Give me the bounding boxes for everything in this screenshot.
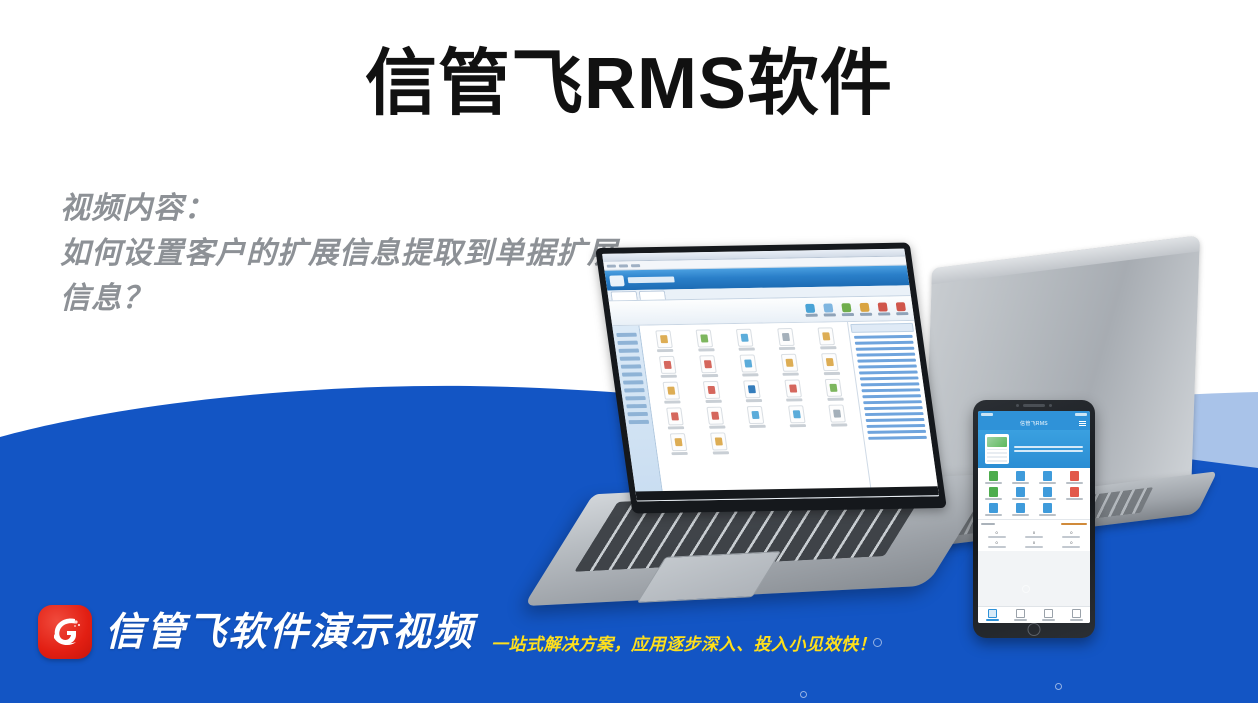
- module-glyph-icon: [744, 380, 762, 398]
- stat-cell: 0: [1015, 540, 1052, 548]
- footer-banner: 信管飞软件演示视频 一站式解决方案，应用逐步深入、投入小见效快！: [0, 603, 1258, 703]
- module-glyph-icon: [710, 432, 728, 450]
- footer-tagline: 一站式解决方案，应用逐步深入、投入小见效快！: [491, 630, 876, 655]
- module-glyph-icon: [706, 407, 724, 425]
- mobile-module-付款结算单[interactable]: [1007, 503, 1034, 516]
- stat-label: [1025, 536, 1043, 538]
- module-icon-系统设置[interactable]: [658, 433, 700, 455]
- mobile-module-销售出库查询[interactable]: [1061, 471, 1088, 484]
- right-panel-link[interactable]: [854, 335, 913, 339]
- banner-line-1: [1014, 446, 1083, 448]
- right-panel-link[interactable]: [858, 365, 917, 369]
- decorative-dot: [800, 691, 807, 698]
- module-label: [712, 451, 729, 454]
- module-icon-销售统计[interactable]: [735, 406, 777, 428]
- menu-item-edit[interactable]: [619, 264, 628, 267]
- mobile-module-label: [1039, 514, 1056, 516]
- toolbar-exit-icon[interactable]: [894, 302, 909, 315]
- module-icon-采购统计[interactable]: [776, 405, 818, 427]
- phone-camera-icon: [1016, 404, 1019, 407]
- stat-value: 0: [996, 530, 998, 535]
- mobile-module-采购出库查询[interactable]: [1061, 487, 1088, 500]
- module-glyph-icon: [747, 406, 765, 424]
- module-label: [672, 452, 689, 455]
- module-label: [823, 372, 840, 375]
- sidebar-item[interactable]: [621, 364, 642, 368]
- module-label: [783, 373, 800, 376]
- slide-canvas: 信管飞RMS软件 视频内容： 如何设置客户的扩展信息提取到单据扩展 信息？: [0, 0, 1258, 703]
- mobile-module-label: [1012, 514, 1029, 516]
- mobile-module-label: [985, 514, 1002, 516]
- right-panel-link[interactable]: [856, 347, 915, 351]
- phone-sensor-icon: [1049, 404, 1052, 407]
- module-glyph-icon: [781, 354, 799, 372]
- phone-speaker: [1023, 404, 1045, 407]
- module-icon-其他收入[interactable]: [772, 379, 814, 401]
- mobile-module-全部[interactable]: [1034, 503, 1061, 516]
- xinguanfei-bird-logo-icon: [38, 605, 92, 659]
- mobile-module-glyph-icon: [989, 471, 998, 481]
- module-label: [664, 400, 681, 403]
- mobile-module-glyph-icon: [1043, 503, 1052, 513]
- sidebar-item[interactable]: [626, 404, 647, 408]
- module-label: [698, 348, 715, 351]
- mobile-module-销售退货单[interactable]: [1034, 471, 1061, 484]
- module-label: [709, 425, 726, 428]
- stat-value: 0: [1070, 540, 1072, 545]
- module-icon-收款单[interactable]: [650, 381, 692, 403]
- stat-label: [1062, 536, 1080, 538]
- stat-value: 0: [996, 540, 998, 545]
- mobile-stats-header: [978, 519, 1090, 527]
- stat-value: 0: [1070, 530, 1072, 535]
- module-glyph-icon: [669, 433, 687, 451]
- stat-cell: 0: [1053, 530, 1090, 538]
- stats-title-label: [981, 523, 995, 525]
- stat-label: [1062, 546, 1080, 548]
- module-glyph-icon: [777, 328, 795, 346]
- mobile-module-grid[interactable]: [978, 468, 1090, 519]
- mobile-app-header: 信管飞RMS: [978, 417, 1090, 430]
- module-label: [742, 373, 759, 376]
- sidebar-item[interactable]: [618, 349, 639, 353]
- decorative-dot: [1022, 585, 1030, 593]
- desktop-app-screen: [602, 249, 939, 502]
- sidebar-item[interactable]: [628, 420, 649, 424]
- module-label: [701, 374, 718, 377]
- mobile-module-收款结算单[interactable]: [980, 503, 1007, 516]
- toolbar-delete-icon[interactable]: [839, 303, 854, 316]
- mobile-module-销售出库单[interactable]: [1007, 471, 1034, 484]
- mobile-module-label: [1012, 482, 1029, 484]
- right-panel-link[interactable]: [861, 388, 920, 392]
- mobile-module-label: [985, 482, 1002, 484]
- sidebar-item[interactable]: [617, 341, 638, 345]
- toolbar-add-icon[interactable]: [803, 303, 818, 316]
- toolbar-search-icon[interactable]: [857, 302, 872, 315]
- right-panel-list[interactable]: [852, 335, 929, 440]
- mobile-module-采购订单[interactable]: [980, 487, 1007, 500]
- module-icon-采购入库[interactable]: [687, 355, 729, 377]
- tab-active[interactable]: [639, 291, 666, 300]
- mobile-module-label: [1066, 482, 1083, 484]
- right-panel-link[interactable]: [864, 406, 923, 410]
- module-glyph-icon: [825, 379, 843, 397]
- toolbar-edit-icon[interactable]: [821, 303, 836, 316]
- module-label: [705, 400, 722, 403]
- phone-top-bar: [973, 404, 1095, 407]
- stat-value: 0: [1033, 540, 1035, 545]
- page-title: 信管飞RMS软件: [0, 46, 1258, 124]
- module-glyph-icon: [736, 329, 754, 347]
- sidebar-item[interactable]: [625, 396, 646, 400]
- module-label: [657, 349, 674, 352]
- status-battery-icon: [1075, 413, 1087, 416]
- module-label: [831, 423, 848, 426]
- mobile-module-销售订单[interactable]: [980, 471, 1007, 484]
- module-glyph-icon: [662, 382, 680, 400]
- right-panel-link[interactable]: [868, 436, 927, 440]
- module-icon-供应商资料[interactable]: [684, 329, 726, 351]
- module-glyph-icon: [659, 356, 677, 374]
- module-icon-销售出库[interactable]: [769, 354, 811, 376]
- mobile-promo-banner: [978, 430, 1090, 468]
- app-brand-name: [628, 276, 675, 283]
- mobile-module-glyph-icon: [989, 487, 998, 497]
- module-icon-利润统计[interactable]: [817, 404, 859, 426]
- module-label: [786, 398, 803, 401]
- module-label: [827, 398, 844, 401]
- mobile-module-label: [1039, 498, 1056, 500]
- stat-value: 0: [1033, 530, 1035, 535]
- sidebar-item[interactable]: [623, 380, 644, 384]
- module-glyph-icon: [696, 329, 714, 347]
- module-label: [661, 375, 678, 378]
- module-label: [749, 425, 766, 428]
- right-panel-link[interactable]: [860, 376, 919, 380]
- module-label: [820, 346, 837, 349]
- right-panel-link[interactable]: [855, 341, 914, 345]
- stat-cell: 0: [1053, 540, 1090, 548]
- hamburger-menu-icon[interactable]: [1079, 421, 1086, 426]
- module-label: [779, 347, 796, 350]
- mobile-module-glyph-icon: [1043, 471, 1052, 481]
- module-icon-库存调拨[interactable]: [695, 406, 737, 428]
- sidebar-item[interactable]: [620, 356, 641, 360]
- module-glyph-icon: [818, 327, 836, 345]
- menu-item-file[interactable]: [607, 264, 616, 267]
- sidebar-item[interactable]: [627, 412, 648, 416]
- module-glyph-icon: [788, 405, 806, 423]
- mobile-module-label: [1066, 498, 1083, 500]
- mobile-module-glyph-icon: [1043, 487, 1052, 497]
- decorative-dot: [1055, 683, 1062, 690]
- module-icon-销售订单[interactable]: [728, 354, 770, 376]
- module-glyph-icon: [821, 353, 839, 371]
- right-panel-link[interactable]: [857, 359, 916, 363]
- module-glyph-icon: [666, 407, 684, 425]
- stat-label: [988, 546, 1006, 548]
- sidebar-item[interactable]: [622, 372, 643, 376]
- front-laptop-mockup: [575, 236, 1035, 606]
- app-module-grid[interactable]: [639, 322, 871, 497]
- banner-line-2: [1014, 450, 1083, 452]
- module-icon-商品资料[interactable]: [725, 329, 767, 351]
- brand-lockup: 信管飞软件演示视频: [38, 605, 474, 659]
- module-icon-付款单[interactable]: [691, 381, 733, 403]
- mobile-app-title: 信管飞RMS: [1020, 420, 1048, 427]
- mobile-module-采购入库单[interactable]: [1007, 487, 1034, 500]
- stat-cell: 0: [978, 530, 1015, 538]
- front-laptop-screen-bezel: [595, 243, 947, 514]
- stat-label: [1025, 546, 1043, 548]
- stat-cell: 0: [978, 540, 1015, 548]
- right-panel-header: [850, 323, 914, 333]
- module-label: [746, 399, 763, 402]
- stats-filter-group[interactable]: [1061, 523, 1087, 525]
- mobile-module-glyph-icon: [1016, 503, 1025, 513]
- status-carrier: [981, 413, 993, 416]
- mobile-module-glyph-icon: [1070, 487, 1079, 497]
- right-panel-link[interactable]: [866, 424, 925, 428]
- phone-illustration-image: [985, 434, 1009, 464]
- module-icon-员工资料[interactable]: [806, 327, 848, 349]
- right-panel-link[interactable]: [862, 394, 921, 398]
- right-panel-link[interactable]: [861, 382, 920, 386]
- module-label: [668, 426, 685, 429]
- mobile-module-label: [1012, 498, 1029, 500]
- module-icon-库存查询[interactable]: [813, 379, 855, 401]
- module-icon-数据备份[interactable]: [698, 432, 740, 454]
- mobile-module-glyph-icon: [1016, 471, 1025, 481]
- sidebar-item[interactable]: [624, 388, 645, 392]
- right-panel-link[interactable]: [856, 353, 915, 357]
- module-glyph-icon: [784, 379, 802, 397]
- mobile-module-glyph-icon: [1016, 487, 1025, 497]
- module-label: [738, 348, 755, 351]
- subtitle-line-1: 视频内容：: [60, 186, 740, 231]
- right-panel-link[interactable]: [863, 400, 922, 404]
- brand-name-label: 信管飞软件演示视频: [105, 613, 474, 652]
- mobile-module-采购退货单[interactable]: [1034, 487, 1061, 500]
- device-mockup-group: 信管飞RMS 000000: [575, 236, 1258, 656]
- toolbar-refresh-icon[interactable]: [875, 302, 890, 315]
- app-main-body: [612, 321, 938, 498]
- right-panel-link[interactable]: [867, 430, 926, 434]
- stat-label: [988, 536, 1006, 538]
- mobile-module-label: [1039, 482, 1056, 484]
- mobile-module-glyph-icon: [989, 503, 998, 513]
- module-glyph-icon: [699, 355, 717, 373]
- sidebar-item[interactable]: [616, 333, 637, 337]
- module-icon-费用支出单[interactable]: [732, 380, 774, 402]
- stat-cell: 0: [1015, 530, 1052, 538]
- module-icon-库存盘点[interactable]: [654, 407, 696, 429]
- mobile-stats-grid: 000000: [978, 527, 1090, 551]
- banner-text-block: [1014, 444, 1083, 454]
- right-panel-link[interactable]: [859, 370, 918, 374]
- module-glyph-icon: [829, 405, 847, 423]
- mobile-app-screen: 信管飞RMS 000000: [978, 411, 1090, 623]
- module-icon-仓库资料[interactable]: [765, 328, 807, 350]
- menu-item-help[interactable]: [631, 264, 640, 267]
- right-panel-link[interactable]: [866, 418, 925, 422]
- mobile-module-glyph-icon: [1070, 471, 1079, 481]
- module-icon-客户资料[interactable]: [643, 330, 685, 352]
- module-glyph-icon: [740, 354, 758, 372]
- module-label: [790, 424, 807, 427]
- module-glyph-icon: [655, 330, 673, 348]
- module-glyph-icon: [703, 381, 721, 399]
- right-panel-link[interactable]: [865, 412, 924, 416]
- mobile-module-label: [985, 498, 1002, 500]
- module-icon-销售退货[interactable]: [810, 353, 852, 375]
- tab-home[interactable]: [610, 291, 637, 300]
- module-icon-采购订单[interactable]: [647, 356, 689, 378]
- decorative-dot: [873, 638, 882, 647]
- app-logo-icon: [609, 275, 625, 286]
